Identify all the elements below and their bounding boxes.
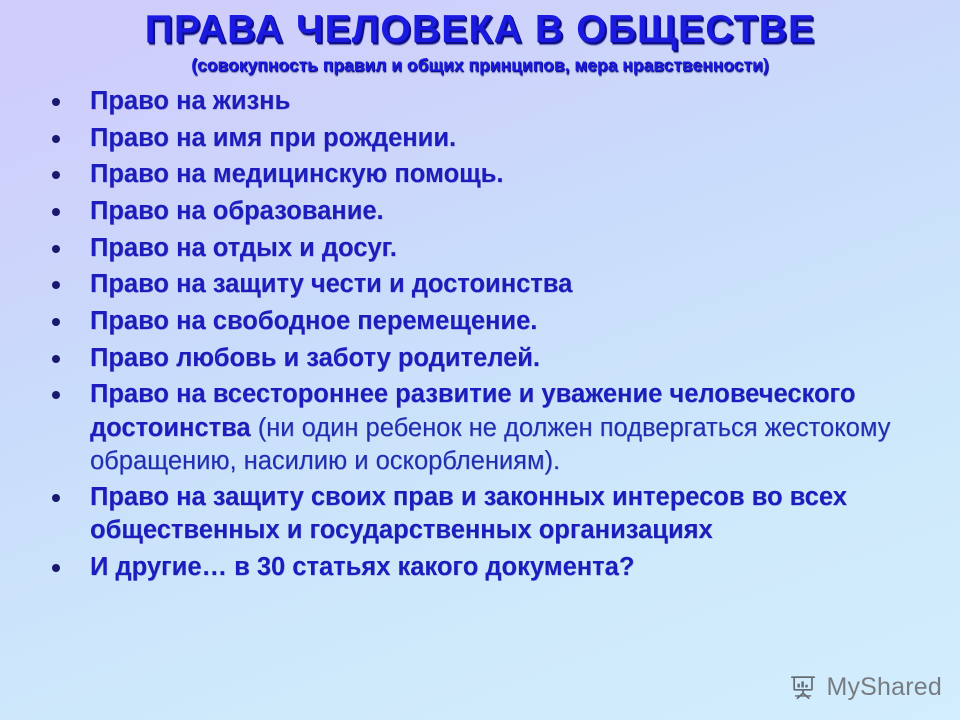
list-item-label: Право на жизнь xyxy=(90,87,290,115)
list-item-label: Право любовь и заботу родителей. xyxy=(90,344,540,372)
list-item: И другие… в 30 статьях какого документа? xyxy=(40,551,960,585)
page-subtitle: (совокупность правил и общих принципов, … xyxy=(0,55,960,76)
page-title: ПРАВА ЧЕЛОВЕКА В ОБЩЕСТВЕ xyxy=(0,9,960,51)
list-item: Право любовь и заботу родителей. xyxy=(40,342,960,376)
presentation-board-icon xyxy=(789,672,819,702)
list-item: Право на отдых и досуг. xyxy=(40,232,960,266)
list-item: Право на образование. xyxy=(40,195,960,229)
list-item-label: И другие… в 30 статьях какого документа? xyxy=(90,553,634,581)
slide-canvas: ПРАВА ЧЕЛОВЕКА В ОБЩЕСТВЕ (совокупность … xyxy=(0,0,960,720)
myshared-watermark: MyShared xyxy=(789,672,942,702)
list-item: Право на имя при рождении. xyxy=(40,122,960,156)
rights-list: Право на жизньПраво на имя при рождении.… xyxy=(0,85,960,585)
list-item: Право на медицинскую помощь. xyxy=(40,158,960,192)
list-item-label: Право на защиту своих прав и законных ин… xyxy=(90,483,847,545)
list-item-label: Право на образование. xyxy=(90,197,384,225)
title-block: ПРАВА ЧЕЛОВЕКА В ОБЩЕСТВЕ (совокупность … xyxy=(0,0,960,76)
list-item: Право на свободное перемещение. xyxy=(40,305,960,339)
list-item-label: Право на имя при рождении. xyxy=(90,124,456,152)
list-item: Право на защиту своих прав и законных ин… xyxy=(40,481,960,548)
list-item-label: Право на защиту чести и достоинства xyxy=(90,270,572,298)
list-item: Право на защиту чести и достоинства xyxy=(40,268,960,302)
list-item-label: Право на свободное перемещение. xyxy=(90,307,537,335)
list-item-label: Право на медицинскую помощь. xyxy=(90,160,503,188)
watermark-label: MyShared xyxy=(826,673,942,702)
list-item-label: Право на отдых и досуг. xyxy=(90,234,397,262)
list-item: Право на жизнь xyxy=(40,85,960,119)
list-item: Право на всестороннее развитие и уважени… xyxy=(40,378,960,477)
